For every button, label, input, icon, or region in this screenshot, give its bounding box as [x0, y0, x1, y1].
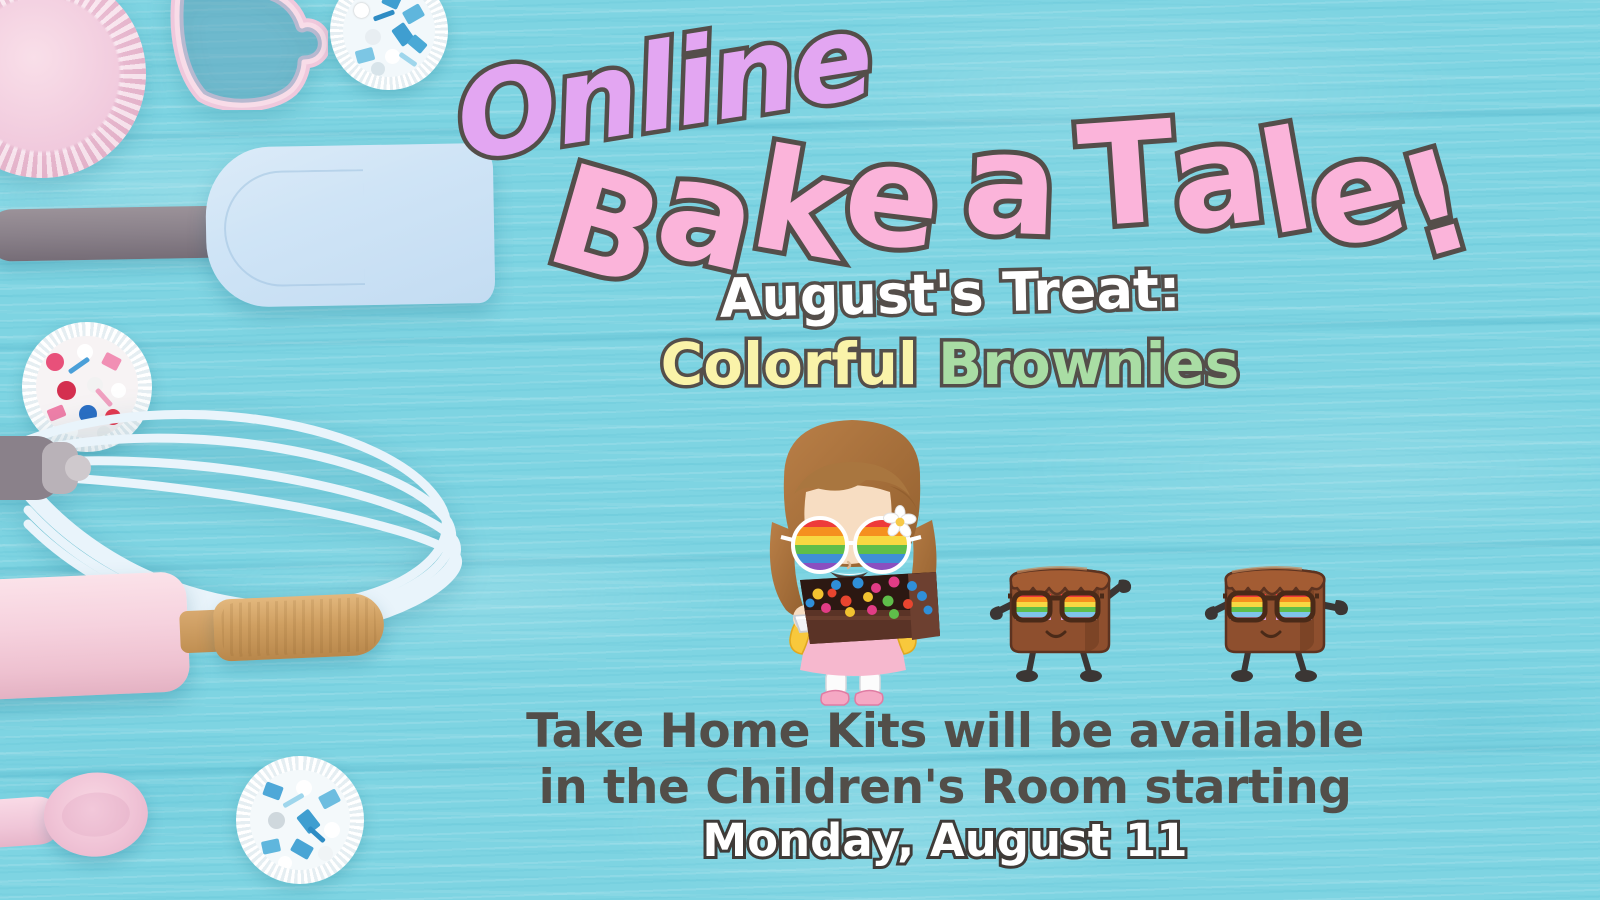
chef-girl-character: [722, 382, 972, 712]
headline-char: a: [961, 102, 1058, 268]
flavor-word-brownies: Brownies: [938, 330, 1239, 398]
footer-line-1: Take Home Kits will be available: [145, 704, 1600, 759]
footer-line-3-date: Monday, August 11: [145, 814, 1600, 867]
footer-line-2: in the Children's Room starting: [145, 760, 1600, 815]
brownie-buddy-left: [985, 548, 1135, 683]
brownie-buddy-right: [1200, 548, 1350, 683]
poster-canvas: Online BakeaTale! August's Treat: Colorf…: [0, 0, 1600, 900]
cookie-cutter-teapot-icon: [168, 0, 328, 110]
headline-char: e: [836, 111, 947, 284]
rolling-pin-pink-icon: [0, 556, 403, 708]
